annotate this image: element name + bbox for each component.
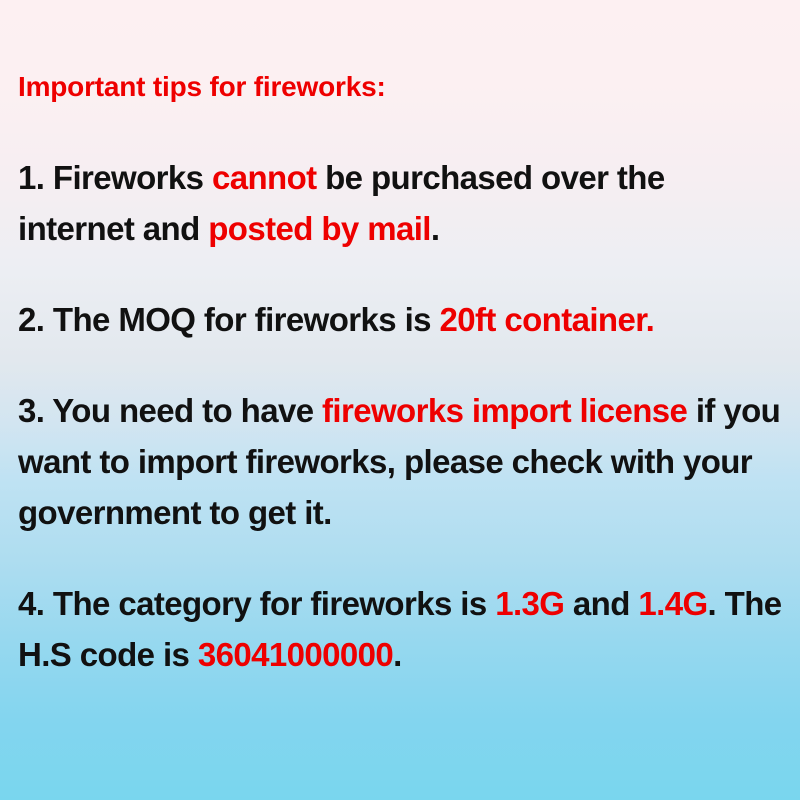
highlight-text: 1.3G [495,585,564,622]
tips-list: 1. Fireworks cannot be purchased over th… [18,152,782,680]
body-text: 1. Fireworks [18,159,212,196]
highlight-text: 20ft container. [439,301,654,338]
highlight-text: 1.4G [638,585,707,622]
tip-item: 2. The MOQ for fireworks is 20ft contain… [18,294,782,345]
highlight-text: fireworks import license [322,392,687,429]
highlight-text: 36041000000 [198,636,393,673]
highlight-text: posted by mail [208,210,431,247]
page-title: Important tips for fireworks: [18,70,386,104]
tip-item: 4. The category for fireworks is 1.3G an… [18,578,782,680]
body-text: . [393,636,402,673]
body-text: 2. The MOQ for fireworks is [18,301,439,338]
highlight-text: cannot [212,159,317,196]
fireworks-tips-poster: Important tips for fireworks: 1. Firewor… [0,0,800,800]
body-text: 3. You need to have [18,392,322,429]
body-text: . [431,210,440,247]
tip-item: 3. You need to have fireworks import lic… [18,385,782,538]
body-text: 4. The category for fireworks is [18,585,495,622]
tip-item: 1. Fireworks cannot be purchased over th… [18,152,782,254]
body-text: and [564,585,638,622]
